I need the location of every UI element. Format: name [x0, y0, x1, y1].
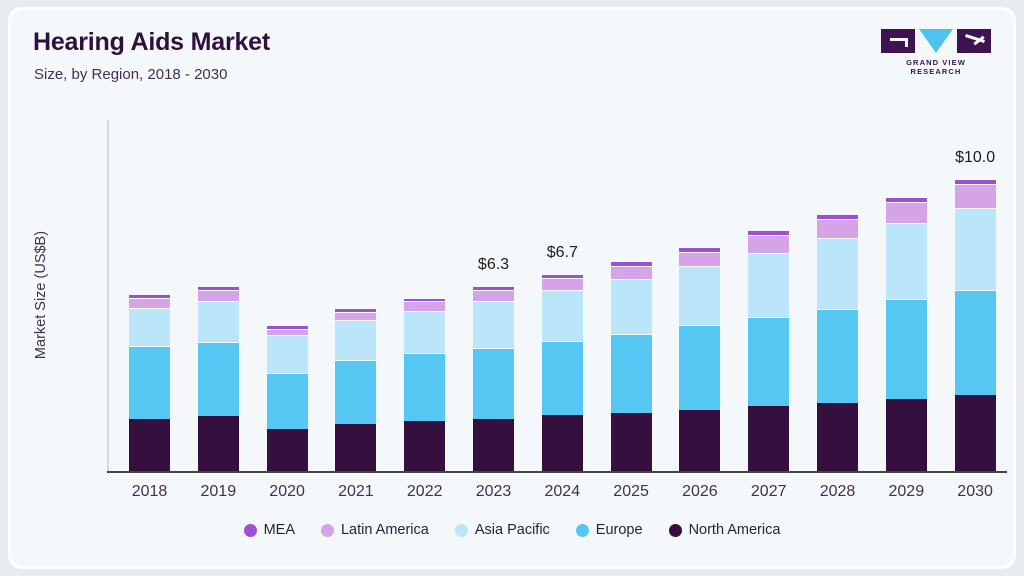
stacked-bar[interactable] [335, 308, 376, 471]
bar-segment-asia-pacific[interactable] [404, 311, 445, 353]
bar-segment-europe[interactable] [335, 360, 376, 424]
legend-swatch-icon [669, 524, 682, 537]
bar-segment-europe[interactable] [817, 309, 858, 403]
bar-segment-north-america[interactable] [955, 395, 996, 471]
bar-segment-europe[interactable] [748, 317, 789, 406]
bar-segment-europe[interactable] [473, 348, 514, 419]
bar-value-label: $6.3 [478, 256, 509, 274]
legend-swatch-icon [455, 524, 468, 537]
bar-segment-latin-america[interactable] [748, 235, 789, 253]
bar-segment-asia-pacific[interactable] [267, 335, 308, 373]
stacked-bar[interactable] [679, 247, 720, 471]
bar-segment-north-america[interactable] [267, 429, 308, 471]
logo-g-stem [905, 38, 908, 47]
bar-segment-asia-pacific[interactable] [886, 223, 927, 299]
bar-segment-latin-america[interactable] [611, 266, 652, 279]
chart-legend: MEALatin AmericaAsia PacificEuropeNorth … [11, 522, 1013, 538]
bar-segment-latin-america[interactable] [198, 290, 239, 301]
bar-segment-north-america[interactable] [542, 415, 583, 471]
y-axis-label: Market Size (US$B) [33, 231, 49, 359]
legend-label: Latin America [341, 522, 429, 538]
chart-plot-area: Market Size (US$B) 024681012 20182019202… [107, 120, 1007, 471]
bar-segment-asia-pacific[interactable] [129, 308, 170, 346]
x-axis-tick-label: 2030 [935, 483, 1015, 501]
bar-segment-europe[interactable] [542, 341, 583, 415]
bar-segment-north-america[interactable] [335, 424, 376, 471]
bar-value-label: $10.0 [955, 149, 995, 167]
stacked-bar[interactable] [817, 214, 858, 471]
stacked-bar[interactable] [198, 286, 239, 471]
bar-segment-north-america[interactable] [473, 419, 514, 471]
bar-segment-north-america[interactable] [679, 410, 720, 471]
bar-segment-latin-america[interactable] [955, 184, 996, 207]
stacked-bar[interactable] [267, 325, 308, 471]
stacked-bar[interactable] [404, 298, 445, 471]
bar-segment-asia-pacific[interactable] [955, 208, 996, 290]
stacked-bar[interactable] [611, 261, 652, 471]
legend-label: MEA [264, 522, 295, 538]
bar-value-label: $6.7 [547, 244, 578, 262]
bar-segment-north-america[interactable] [611, 413, 652, 472]
legend-item-north-america[interactable]: North America [669, 522, 781, 538]
logo-wordmark: GRAND VIEW RESEARCH [881, 58, 991, 76]
stacked-bar[interactable] [129, 294, 170, 471]
legend-swatch-icon [321, 524, 334, 537]
logo-monogram [881, 29, 991, 55]
bar-segment-latin-america[interactable] [886, 202, 927, 224]
logo-g-block [881, 29, 915, 53]
legend-label: Europe [596, 522, 643, 538]
bar-segment-europe[interactable] [679, 325, 720, 409]
bar-segment-asia-pacific[interactable] [335, 320, 376, 359]
bar-segment-latin-america[interactable] [473, 290, 514, 302]
bar-segment-asia-pacific[interactable] [542, 290, 583, 341]
legend-label: North America [689, 522, 781, 538]
y-axis-line [107, 120, 109, 471]
bar-segment-latin-america[interactable] [335, 312, 376, 320]
grand-view-research-logo: GRAND VIEW RESEARCH [881, 29, 991, 69]
logo-v-triangle-icon [919, 29, 953, 53]
bar-segment-asia-pacific[interactable] [679, 266, 720, 325]
legend-item-asia-pacific[interactable]: Asia Pacific [455, 522, 550, 538]
bar-segment-latin-america[interactable] [404, 301, 445, 311]
stacked-bar[interactable] [473, 286, 514, 471]
legend-swatch-icon [576, 524, 589, 537]
bar-segment-latin-america[interactable] [542, 278, 583, 290]
bar-segment-europe[interactable] [404, 353, 445, 421]
page-title: Hearing Aids Market [33, 28, 270, 57]
page-subtitle: Size, by Region, 2018 - 2030 [34, 66, 227, 83]
stacked-bar[interactable] [886, 197, 927, 471]
x-axis-line [107, 471, 1007, 473]
bar-segment-asia-pacific[interactable] [198, 301, 239, 342]
bar-segment-asia-pacific[interactable] [473, 301, 514, 348]
logo-r-block [957, 29, 991, 53]
bar-segment-north-america[interactable] [886, 399, 927, 471]
stacked-bar[interactable] [542, 274, 583, 471]
bar-segment-asia-pacific[interactable] [748, 253, 789, 317]
bar-segment-north-america[interactable] [404, 421, 445, 471]
bar-segment-europe[interactable] [129, 346, 170, 419]
stacked-bar[interactable] [748, 230, 789, 471]
bar-segment-north-america[interactable] [129, 419, 170, 471]
stacked-bar[interactable] [955, 179, 996, 471]
legend-swatch-icon [244, 524, 257, 537]
legend-item-europe[interactable]: Europe [576, 522, 643, 538]
bar-segment-north-america[interactable] [198, 416, 239, 471]
bar-segment-latin-america[interactable] [129, 298, 170, 308]
bar-segment-latin-america[interactable] [679, 252, 720, 267]
bar-segment-europe[interactable] [955, 290, 996, 395]
legend-item-latin-america[interactable]: Latin America [321, 522, 429, 538]
legend-item-mea[interactable]: MEA [244, 522, 295, 538]
chart-card: Hearing Aids Market Size, by Region, 201… [8, 7, 1016, 569]
bar-segment-latin-america[interactable] [817, 219, 858, 239]
bar-segment-north-america[interactable] [748, 406, 789, 471]
bar-segment-europe[interactable] [267, 373, 308, 429]
bar-segment-asia-pacific[interactable] [611, 279, 652, 334]
legend-label: Asia Pacific [475, 522, 550, 538]
bar-segment-europe[interactable] [611, 334, 652, 413]
bar-segment-north-america[interactable] [817, 403, 858, 471]
bar-segment-europe[interactable] [198, 342, 239, 416]
bar-segment-asia-pacific[interactable] [817, 238, 858, 308]
bar-segment-europe[interactable] [886, 299, 927, 398]
